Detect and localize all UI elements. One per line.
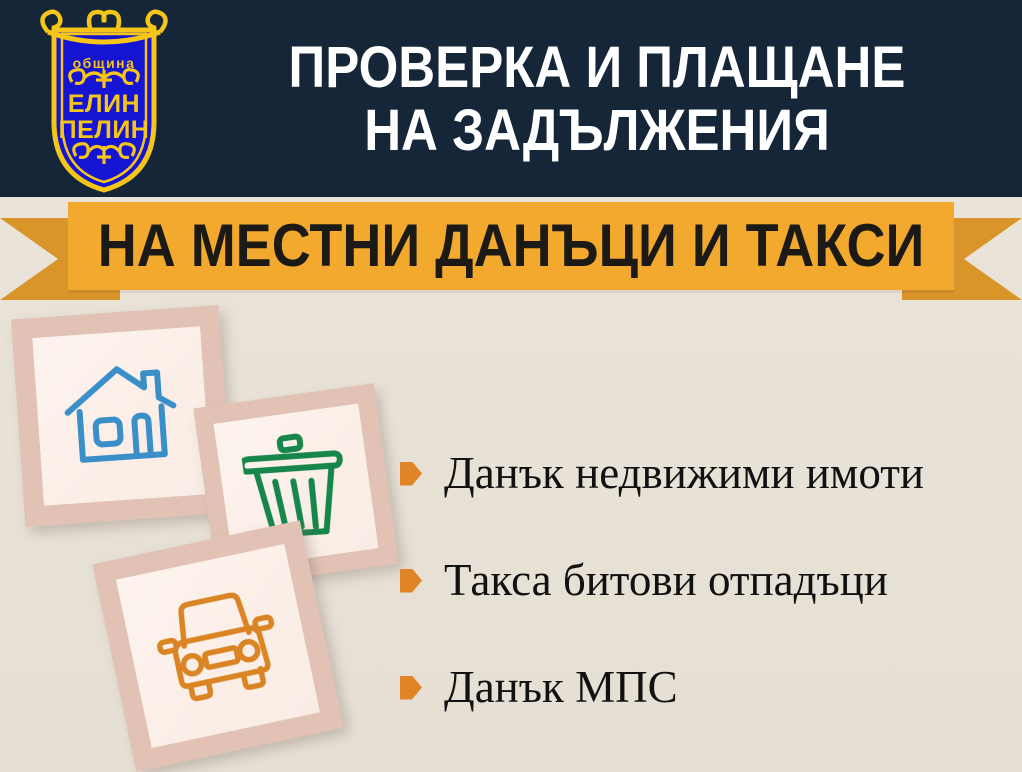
subtitle-ribbon: НА МЕСТНИ ДАНЪЦИ И ТАКСИ <box>0 196 1022 306</box>
stamp-face-car <box>116 544 320 748</box>
ribbon-band: НА МЕСТНИ ДАНЪЦИ И ТАКСИ <box>68 202 954 290</box>
house-icon <box>58 357 185 475</box>
page-title-line-1: ПРОВЕРКА И ПЛАЩАНЕ <box>289 37 906 100</box>
header-bar: община ЕЛИН ПЕЛИН <box>0 0 1022 197</box>
stamp-card-car <box>92 520 343 771</box>
list-item-label: Данък МПС <box>444 665 678 710</box>
list-item[interactable]: Данък недвижими имоти <box>400 420 1000 527</box>
car-front-icon <box>148 583 289 708</box>
arrow-bullet-icon <box>400 462 422 486</box>
stamp-face-house <box>32 326 211 505</box>
svg-text:ЕЛИН: ЕЛИН <box>68 90 140 118</box>
arrow-bullet-icon <box>400 676 422 700</box>
arrow-bullet-icon <box>400 569 422 593</box>
page-title-line-2: НА ЗАДЪЛЖЕНИЯ <box>364 100 830 163</box>
list-item[interactable]: Данък МПС <box>400 634 1000 741</box>
svg-text:ПЕЛИН: ПЕЛИН <box>59 116 150 144</box>
tax-type-list: Данък недвижими имоти Такса битови отпад… <box>400 420 1000 741</box>
ribbon-label: НА МЕСТНИ ДАНЪЦИ И ТАКСИ <box>112 202 909 290</box>
list-item[interactable]: Такса битови отпадъци <box>400 527 1000 634</box>
svg-text:община: община <box>73 55 136 71</box>
poster-root: община ЕЛИН ПЕЛИН <box>0 0 1022 772</box>
list-item-label: Такса битови отпадъци <box>444 558 888 603</box>
municipality-crest-logo: община ЕЛИН ПЕЛИН <box>28 4 180 194</box>
list-item-label: Данък недвижими имоти <box>444 451 924 496</box>
page-title: ПРОВЕРКА И ПЛАЩАНЕ НА ЗАДЪЛЖЕНИЯ <box>234 14 959 186</box>
